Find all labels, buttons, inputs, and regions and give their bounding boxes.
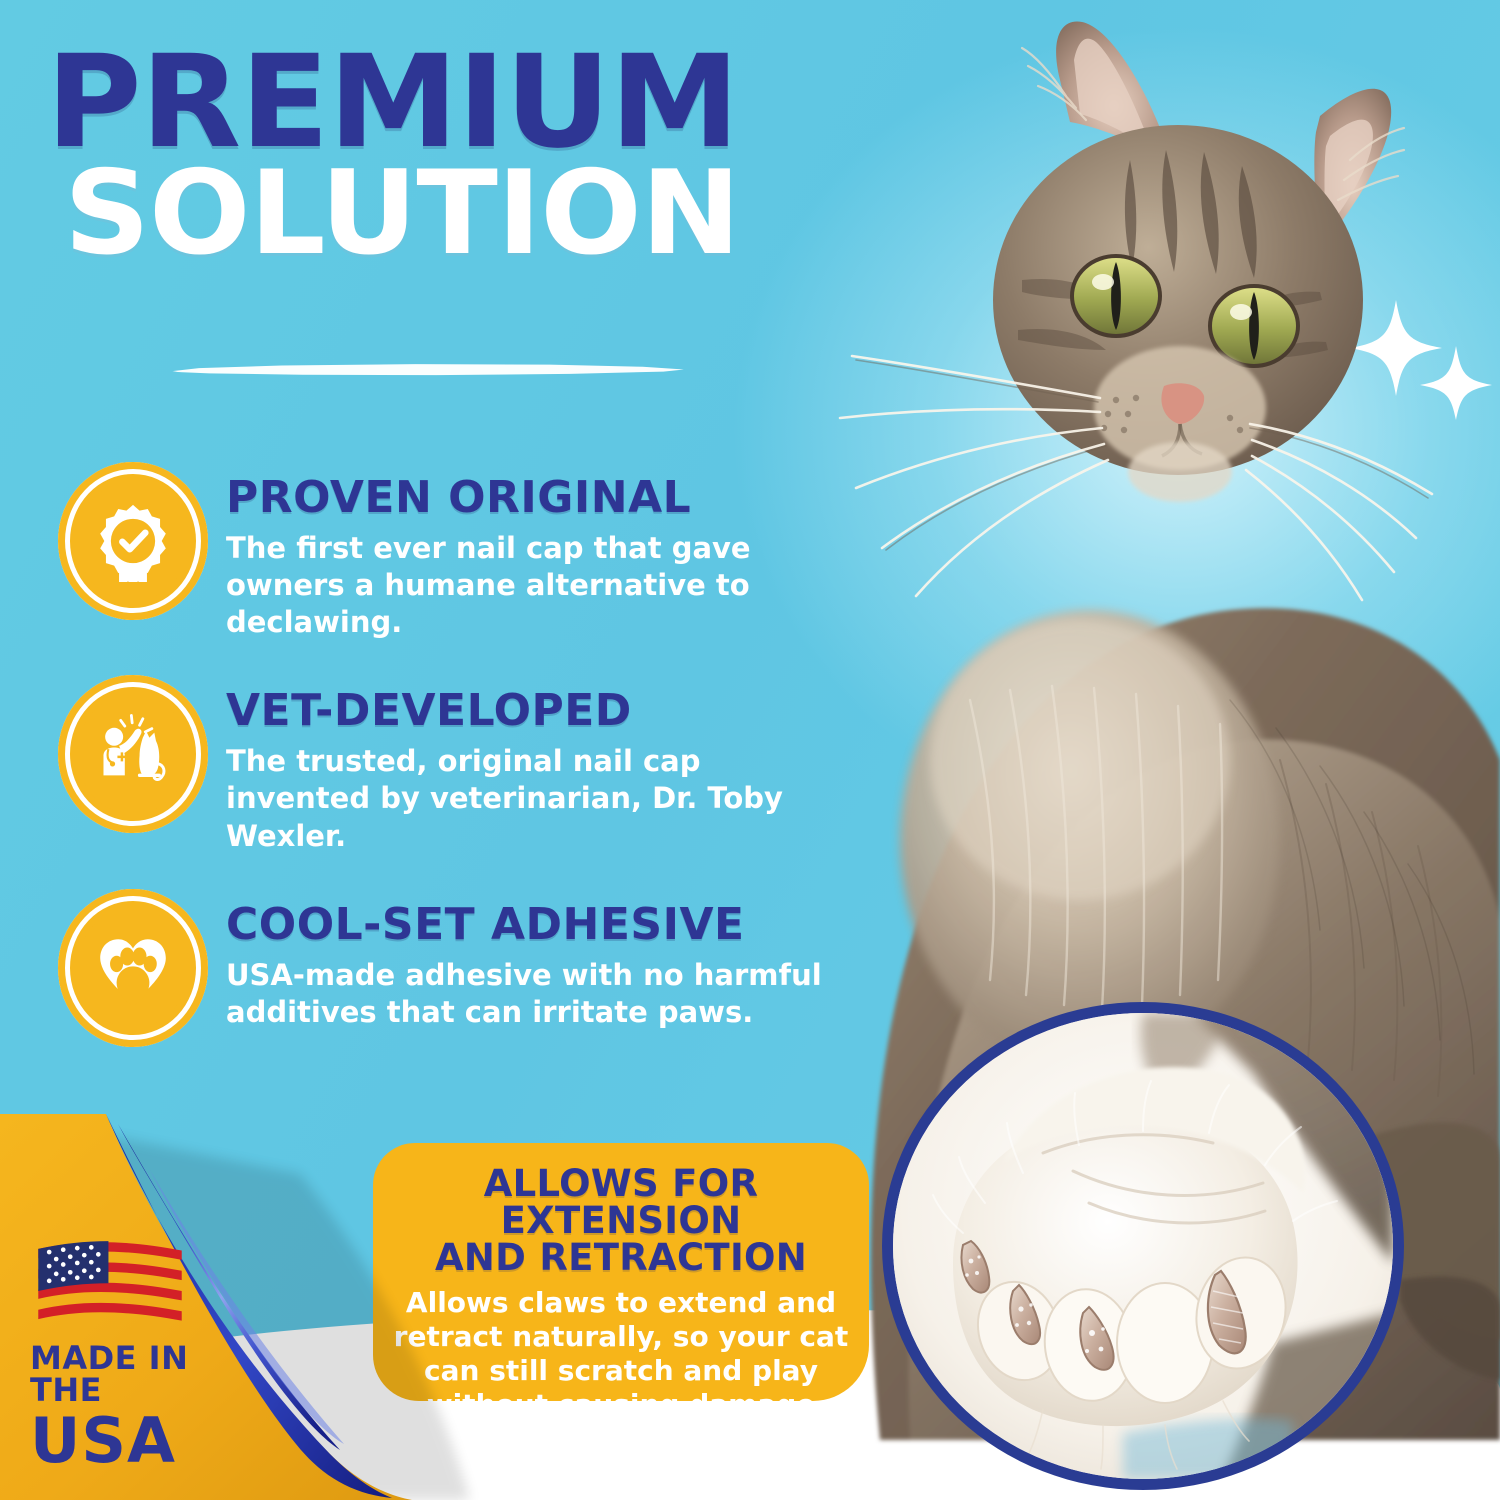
made-in-usa-line1: MADE IN THE xyxy=(30,1342,260,1406)
feature-list: PROVEN ORIGINAL The first ever nail cap … xyxy=(58,462,858,1081)
usa-flag-icon xyxy=(30,1238,190,1330)
made-in-usa-badge: MADE IN THE USA xyxy=(30,1238,260,1472)
feature-text: The first ever nail cap that gave owners… xyxy=(226,530,826,641)
feature-text: The trusted, original nail cap invented … xyxy=(226,743,826,854)
award-ribbon-check-icon xyxy=(58,462,208,620)
headline-block: PREMIUM SOLUTION xyxy=(46,48,846,264)
made-in-usa-line2: USA xyxy=(30,1410,260,1472)
paw-closeup-inset xyxy=(882,1002,1404,1490)
feature-item-vet-developed: VET-DEVELOPED The trusted, original nail… xyxy=(58,675,858,854)
headline-line-2: SOLUTION xyxy=(64,164,869,264)
heart-paw-icon xyxy=(58,889,208,1047)
vet-highfive-cat-icon xyxy=(58,675,208,833)
infographic-canvas: PREMIUM SOLUTION PROVEN ORIGINAL The fir… xyxy=(0,0,1500,1500)
feature-item-proven-original: PROVEN ORIGINAL The first ever nail cap … xyxy=(58,462,858,641)
headline-line-1: PREMIUM xyxy=(46,48,862,158)
feature-text: USA-made adhesive with no harmful additi… xyxy=(226,957,826,1031)
feature-item-cool-set-adhesive: COOL-SET ADHESIVE USA-made adhesive with… xyxy=(58,889,858,1047)
